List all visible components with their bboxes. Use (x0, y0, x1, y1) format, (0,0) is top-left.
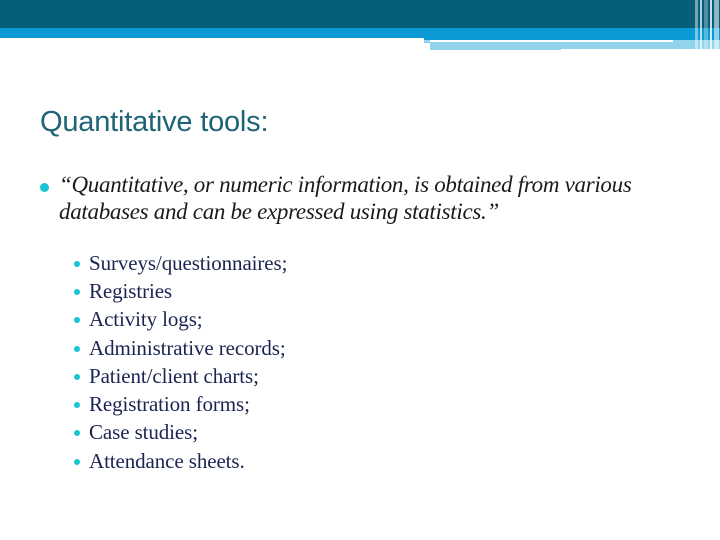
banner-stripe (700, 0, 702, 56)
list-item: Registration forms; (74, 391, 690, 417)
header-banner (0, 0, 720, 56)
banner-band-dark (0, 0, 720, 28)
quote-text: “Quantitative, or numeric information, i… (59, 172, 690, 226)
bullet-dot-icon (74, 402, 80, 408)
list-item: Activity logs; (74, 306, 690, 332)
quote-bullet-row: “Quantitative, or numeric information, i… (40, 172, 690, 226)
bullet-dot-icon (40, 183, 49, 192)
list-item: Case studies; (74, 419, 690, 445)
bullet-dot-icon (74, 317, 80, 323)
list-item: Administrative records; (74, 335, 690, 361)
list-item: Registries (74, 278, 690, 304)
banner-left-cutout (0, 38, 424, 56)
list-item-label: Surveys/questionnaires; (89, 250, 287, 276)
banner-bar-blue-right (424, 28, 720, 40)
banner-bar-pale-short (430, 44, 561, 50)
bullet-dot-icon (74, 430, 80, 436)
list-item-label: Patient/client charts; (89, 363, 259, 389)
slide-canvas: Quantitative tools: “Quantitative, or nu… (0, 0, 720, 540)
bullet-dot-icon (74, 261, 80, 267)
banner-stripe (704, 0, 708, 56)
slide-title: Quantitative tools: (40, 106, 268, 139)
banner-stripe (695, 0, 698, 56)
list-item-label: Registration forms; (89, 391, 250, 417)
list-item: Surveys/questionnaires; (74, 250, 690, 276)
list-item: Patient/client charts; (74, 363, 690, 389)
tools-list: Surveys/questionnaires; Registries Activ… (40, 250, 690, 474)
list-item-label: Activity logs; (89, 306, 203, 332)
banner-stripe (714, 0, 719, 56)
banner-white-separator (430, 40, 673, 42)
bullet-dot-icon (74, 289, 80, 295)
bullet-dot-icon (74, 374, 80, 380)
slide-body: “Quantitative, or numeric information, i… (40, 172, 690, 476)
list-item-label: Registries (89, 278, 172, 304)
list-item-label: Administrative records; (89, 335, 286, 361)
bullet-dot-icon (74, 346, 80, 352)
list-item-label: Case studies; (89, 419, 198, 445)
list-item: Attendance sheets. (74, 448, 690, 474)
list-item-label: Attendance sheets. (89, 448, 245, 474)
banner-vertical-stripes (694, 0, 720, 56)
banner-stripe (710, 0, 712, 56)
bullet-dot-icon (74, 459, 80, 465)
